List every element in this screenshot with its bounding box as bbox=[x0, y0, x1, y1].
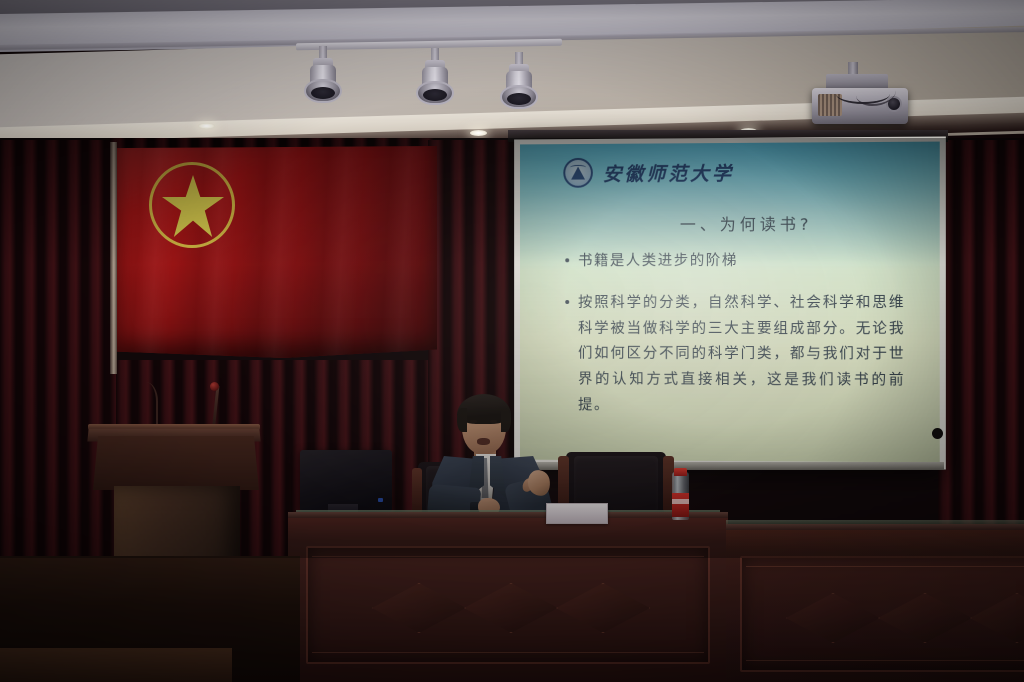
track-spotlight-icon bbox=[498, 52, 540, 106]
desk-diamond-ornament bbox=[786, 593, 880, 643]
projection-screen: 安徽师范大学 一、为何读书? 书籍是人类进步的阶梯 按照科学的分类，自然科学、社… bbox=[514, 136, 946, 469]
desk-diamond-ornament bbox=[464, 583, 558, 633]
desktop-monitor bbox=[300, 450, 392, 512]
speaker-mouth bbox=[477, 438, 490, 445]
youth-league-flag bbox=[117, 146, 437, 358]
chair-armrest bbox=[412, 468, 422, 514]
speaker-eye bbox=[470, 420, 477, 423]
bullet-dot-icon bbox=[565, 300, 569, 304]
projected-slide: 安徽师范大学 一、为何读书? 书籍是人类进步的阶梯 按照科学的分类，自然科学、社… bbox=[520, 142, 940, 463]
podium-cable bbox=[128, 382, 158, 430]
slide-bullet-text: 书籍是人类进步的阶梯 bbox=[578, 249, 738, 275]
desk-diamond-ornament bbox=[878, 593, 972, 643]
water-bottle-label-stripe bbox=[672, 499, 689, 504]
slide-body: 书籍是人类进步的阶梯 按照科学的分类，自然科学、社会科学和思维科学被当做科学的三… bbox=[565, 249, 905, 437]
desk-molding-line bbox=[746, 566, 1024, 567]
recessed-downlight-icon bbox=[198, 123, 215, 129]
stage-curtain-right bbox=[938, 140, 1024, 560]
screen-pull-knob bbox=[932, 428, 943, 439]
slide-header: 安徽师范大学 bbox=[563, 157, 734, 188]
desk-nameplate bbox=[546, 503, 608, 524]
desk-molding-line bbox=[312, 556, 704, 557]
speaker-hair-side bbox=[457, 408, 467, 432]
monitor-power-led bbox=[378, 498, 383, 502]
university-seal-icon bbox=[563, 158, 593, 188]
desk-diamond-group-left bbox=[346, 580, 676, 636]
stage-curtain-left bbox=[0, 140, 116, 570]
desk-diamond-ornament bbox=[372, 583, 466, 633]
water-bottle-label bbox=[672, 493, 689, 517]
stage-floor-front bbox=[0, 648, 232, 682]
desk-molding-line bbox=[312, 652, 704, 653]
track-spotlight-icon bbox=[414, 48, 456, 102]
speaker-hair-side bbox=[501, 408, 511, 432]
microphone-icon bbox=[210, 382, 219, 391]
desk-diamond-group-right bbox=[782, 590, 1024, 646]
water-bottle-cap bbox=[674, 468, 687, 476]
recessed-downlight-icon bbox=[470, 130, 487, 136]
university-name: 安徽师范大学 bbox=[603, 158, 734, 186]
track-spotlight-icon bbox=[302, 46, 344, 100]
lectern-slope-face bbox=[93, 436, 259, 490]
bullet-dot-icon bbox=[565, 258, 569, 262]
lecture-hall-photo: 安徽师范大学 一、为何读书? 书籍是人类进步的阶梯 按照科学的分类，自然科学、社… bbox=[0, 0, 1024, 682]
flag-pole bbox=[110, 142, 117, 374]
speaker-eye bbox=[490, 420, 497, 423]
desk-molding-line bbox=[746, 660, 1024, 661]
seated-speaker bbox=[424, 392, 556, 524]
slide-title: 一、为何读书? bbox=[520, 210, 940, 235]
slide-bullet-text: 按照科学的分类，自然科学、社会科学和思维科学被当做科学的三大主要组成部分。无论我… bbox=[578, 291, 905, 421]
slide-bullet: 书籍是人类进步的阶梯 bbox=[565, 249, 905, 275]
desk-diamond-ornament bbox=[970, 593, 1024, 643]
slide-bullet: 按照科学的分类，自然科学、社会科学和思维科学被当做科学的三大主要组成部分。无论我… bbox=[565, 291, 905, 421]
desk-diamond-ornament bbox=[556, 583, 650, 633]
